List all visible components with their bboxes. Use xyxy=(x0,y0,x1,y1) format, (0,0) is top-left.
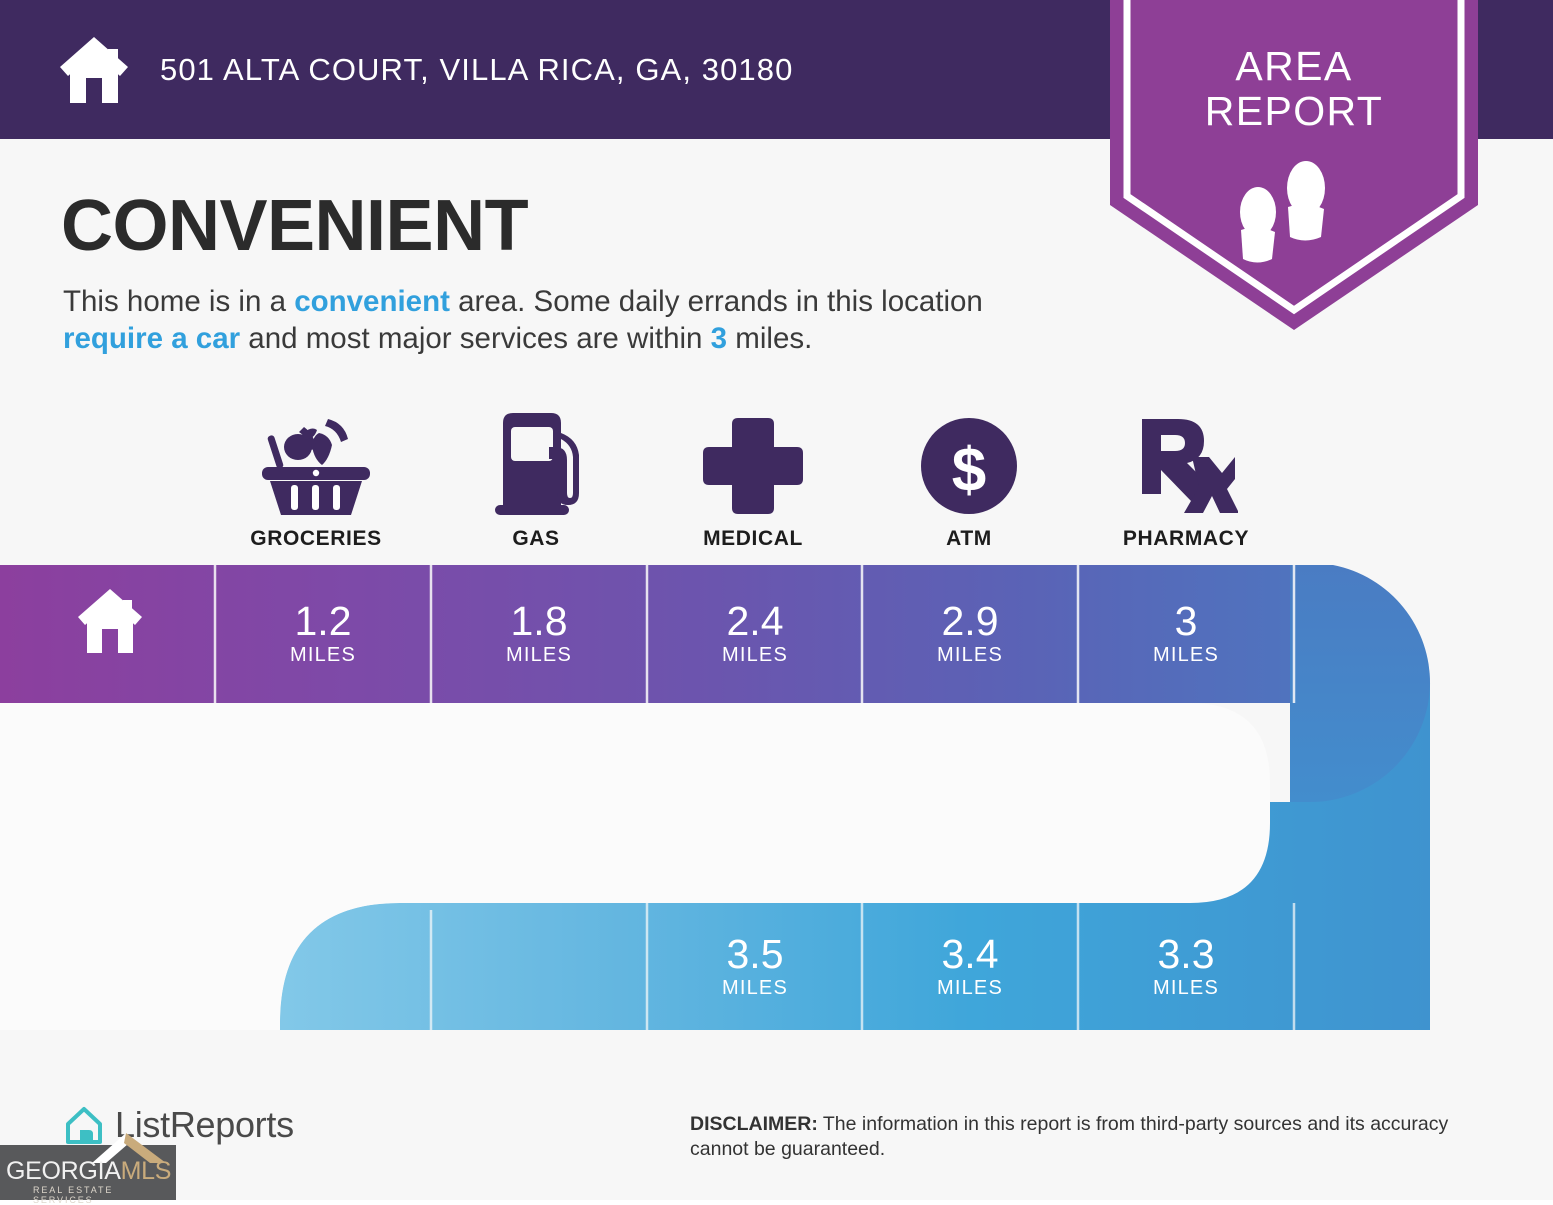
distance-value: 1.2 xyxy=(215,599,431,643)
intro-part-1: This home is in a xyxy=(63,285,294,318)
category-medical: MEDICAL xyxy=(645,415,861,551)
distance-unit: MILES xyxy=(1078,644,1294,667)
distance-gym: 3.3 MILES xyxy=(1078,932,1294,1000)
georgia-mls-logo: GEORGIAMLS REAL ESTATE SERVICES xyxy=(0,1145,176,1200)
mls-wordmark: GEORGIAMLS xyxy=(6,1157,171,1186)
badge-title: AREA REPORT xyxy=(1110,44,1478,134)
intro-paragraph: This home is in a convenient area. Some … xyxy=(63,283,1053,357)
intro-highlight-convenient: convenient xyxy=(294,285,450,318)
intro-part-4: miles. xyxy=(727,322,812,355)
intro-highlight-miles: 3 xyxy=(711,322,727,355)
dollar-circle-icon: $ xyxy=(861,415,1077,515)
distance-value: 3.3 xyxy=(1078,932,1294,976)
category-label: PHARMACY xyxy=(1078,527,1294,551)
distance-gas: 1.8 MILES xyxy=(431,599,647,667)
category-groceries: GROCERIES xyxy=(208,415,424,551)
category-pharmacy: PHARMACY xyxy=(1078,415,1294,551)
distance-groceries: 1.2 MILES xyxy=(215,599,431,667)
distance-unit: MILES xyxy=(1078,977,1294,1000)
intro-part-3: and most major services are within xyxy=(240,322,711,355)
distance-atm: 2.9 MILES xyxy=(862,599,1078,667)
distance-medical: 2.4 MILES xyxy=(647,599,863,667)
distance-ribbon: 1.2 MILES 1.8 MILES 2.4 MILES 2.9 MILES … xyxy=(0,565,1553,1030)
distance-unit: MILES xyxy=(431,644,647,667)
distance-value: 2.4 xyxy=(647,599,863,643)
svg-text:$: $ xyxy=(952,436,986,505)
property-address: 501 ALTA COURT, VILLA RICA, GA, 30180 xyxy=(160,52,793,88)
page-title: CONVENIENT xyxy=(61,185,528,267)
distance-unit: MILES xyxy=(647,644,863,667)
house-icon xyxy=(74,587,146,655)
medical-cross-icon xyxy=(645,415,861,515)
intro-highlight-require-car: require a car xyxy=(63,322,240,355)
distance-value: 1.8 xyxy=(431,599,647,643)
distance-unit: MILES xyxy=(862,977,1078,1000)
distance-value: 3 xyxy=(1078,599,1294,643)
badge-line-2: REPORT xyxy=(1110,89,1478,134)
house-icon xyxy=(55,34,133,106)
distance-unit: MILES xyxy=(215,644,431,667)
distance-value: 3.5 xyxy=(647,932,863,976)
distance-unit: MILES xyxy=(862,644,1078,667)
distance-unit: MILES xyxy=(647,977,863,1000)
disclaimer: DISCLAIMER: The information in this repo… xyxy=(690,1112,1490,1162)
intro-part-2: area. Some daily errands in this locatio… xyxy=(450,285,983,318)
mls-georgia: GEORGIA xyxy=(6,1157,121,1185)
category-label: GAS xyxy=(428,527,644,551)
category-label: ATM xyxy=(861,527,1077,551)
grocery-basket-icon xyxy=(208,415,424,515)
category-label: GROCERIES xyxy=(208,527,424,551)
gas-pump-icon xyxy=(428,415,644,515)
distance-value: 3.4 xyxy=(862,932,1078,976)
mls-mls: MLS xyxy=(121,1157,172,1185)
distance-value: 2.9 xyxy=(862,599,1078,643)
distance-cleaners: 3.5 MILES xyxy=(647,932,863,1000)
category-gas: GAS xyxy=(428,415,644,551)
distance-coffee: 3.4 MILES xyxy=(862,932,1078,1000)
distance-pharmacy: 3 MILES xyxy=(1078,599,1294,667)
badge-line-1: AREA xyxy=(1110,44,1478,89)
disclaimer-label: DISCLAIMER: xyxy=(690,1113,818,1135)
category-atm: $ ATM xyxy=(861,415,1077,551)
category-label: MEDICAL xyxy=(645,527,861,551)
area-report-badge: AREA REPORT xyxy=(1110,0,1478,330)
rx-icon xyxy=(1078,415,1294,515)
mls-tagline: REAL ESTATE SERVICES xyxy=(33,1185,176,1205)
